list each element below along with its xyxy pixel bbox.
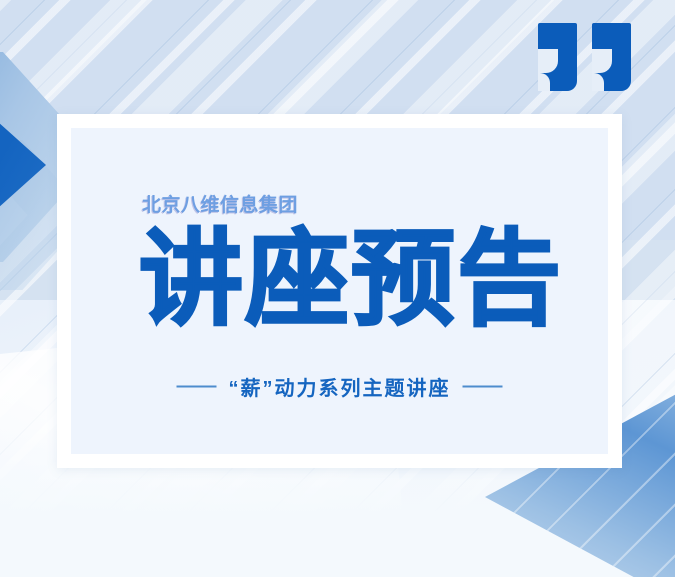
organization-name: 北京八维信息集团: [142, 190, 298, 217]
quote-mark-group: [538, 23, 631, 91]
quote-mark-icon-first: [538, 23, 577, 91]
poster-frame: 北京八维信息集团 讲座预告 —— “薪”动力系列主题讲座 ——: [57, 114, 622, 468]
lecture-announcement-poster: 北京八维信息集团 讲座预告 —— “薪”动力系列主题讲座 ——: [0, 0, 675, 577]
tagline: —— “薪”动力系列主题讲座 ——: [71, 372, 608, 401]
tagline-text: “薪”动力系列主题讲座: [229, 372, 451, 401]
page-title: 讲座预告: [139, 228, 563, 332]
poster-panel: 北京八维信息集团 讲座预告 —— “薪”动力系列主题讲座 ——: [71, 128, 608, 454]
tagline-dash-left: ——: [177, 375, 217, 398]
tagline-dash-right: ——: [463, 375, 503, 398]
quote-mark-icon-second: [592, 23, 631, 91]
